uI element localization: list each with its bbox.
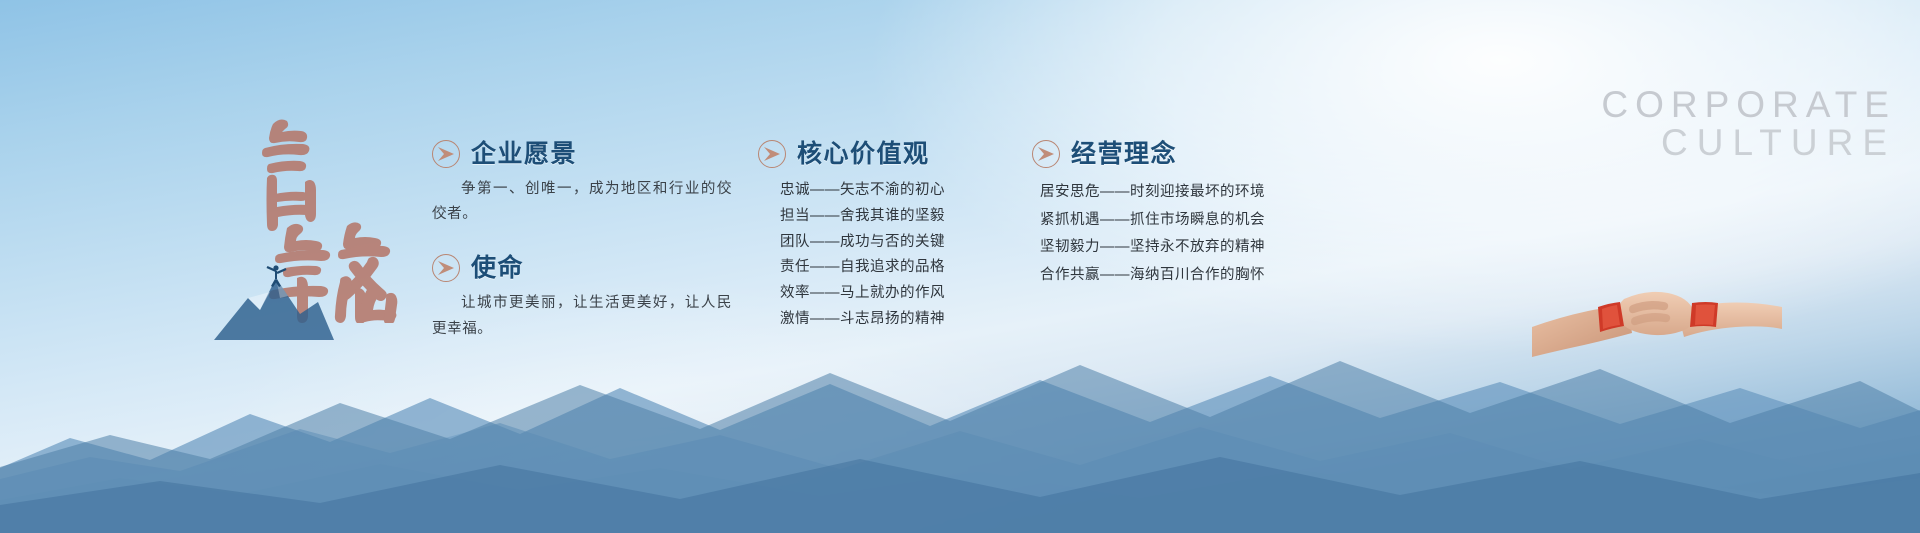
heading-mission-label: 使命 xyxy=(471,256,524,281)
list-item: 忠诚——矢志不渝的初心 xyxy=(758,178,1018,204)
list-item: 责任——自我追求的品格 xyxy=(758,255,1018,281)
mountain-range-mid xyxy=(0,383,1920,533)
circle-arrow-icon xyxy=(1032,140,1060,168)
paragraph-vision: 争第一、创唯一，成为地区和行业的佼佼者。 xyxy=(432,177,732,227)
list-item: 激情——斗志昂扬的精神 xyxy=(758,307,1018,333)
heading-mission: 使命 xyxy=(432,254,732,282)
list-item: 担当——舍我其谁的坚毅 xyxy=(758,204,1018,230)
heading-business-philosophy: 经营理念 xyxy=(1032,140,1332,168)
mountain-peak-climber-icon xyxy=(214,258,334,340)
list-item: 效率——马上就办的作风 xyxy=(758,281,1018,307)
column-business-philosophy: 经营理念 居安思危——时刻迎接最坏的环境 紧抓机遇——抓住市场瞬息的机会 坚韧毅… xyxy=(1032,140,1332,289)
paragraph-mission: 让城市更美丽，让生活更美好，让人民更幸福。 xyxy=(432,291,732,341)
watermark-corporate-culture: CORPORATE CULTURE xyxy=(1601,86,1896,163)
heading-vision-label: 企业愿景 xyxy=(471,142,577,167)
corporate-culture-banner: CORPORATE CULTURE 企业愿景 争第一、创唯一，成为地区和行业的佼… xyxy=(0,0,1920,533)
list-item: 团队——成功与否的关键 xyxy=(758,230,1018,256)
list-item: 合作共赢——海纳百川合作的胸怀 xyxy=(1032,262,1332,290)
list-item: 居安思危——时刻迎接最坏的环境 xyxy=(1032,179,1332,207)
list-item: 坚韧毅力——坚持永不放弃的精神 xyxy=(1032,234,1332,262)
heading-vision: 企业愿景 xyxy=(432,140,732,168)
core-values-list: 忠诚——矢志不渝的初心 担当——舍我其谁的坚毅 团队——成功与否的关键 责任——… xyxy=(758,178,1018,333)
circle-arrow-icon xyxy=(758,140,786,168)
circle-arrow-icon xyxy=(432,254,460,282)
watermark-line-2: CULTURE xyxy=(1601,124,1896,162)
list-item: 紧抓机遇——抓住市场瞬息的机会 xyxy=(1032,207,1332,235)
heading-business-philosophy-label: 经营理念 xyxy=(1071,142,1177,167)
heading-core-values-label: 核心价值观 xyxy=(797,142,930,167)
column-vision-mission: 企业愿景 争第一、创唯一，成为地区和行业的佼佼者。 使命 让城市更美丽，让生活更… xyxy=(432,140,732,342)
clasped-hands-image xyxy=(1532,255,1782,365)
circle-arrow-icon xyxy=(432,140,460,168)
heading-core-values: 核心价值观 xyxy=(758,140,1018,168)
business-philosophy-list: 居安思危——时刻迎接最坏的环境 紧抓机遇——抓住市场瞬息的机会 坚韧毅力——坚持… xyxy=(1032,179,1332,289)
column-core-values: 核心价值观 忠诚——矢志不渝的初心 担当——舍我其谁的坚毅 团队——成功与否的关… xyxy=(758,140,1018,333)
watermark-line-1: CORPORATE xyxy=(1601,86,1896,124)
mountain-range-far xyxy=(0,438,1920,533)
